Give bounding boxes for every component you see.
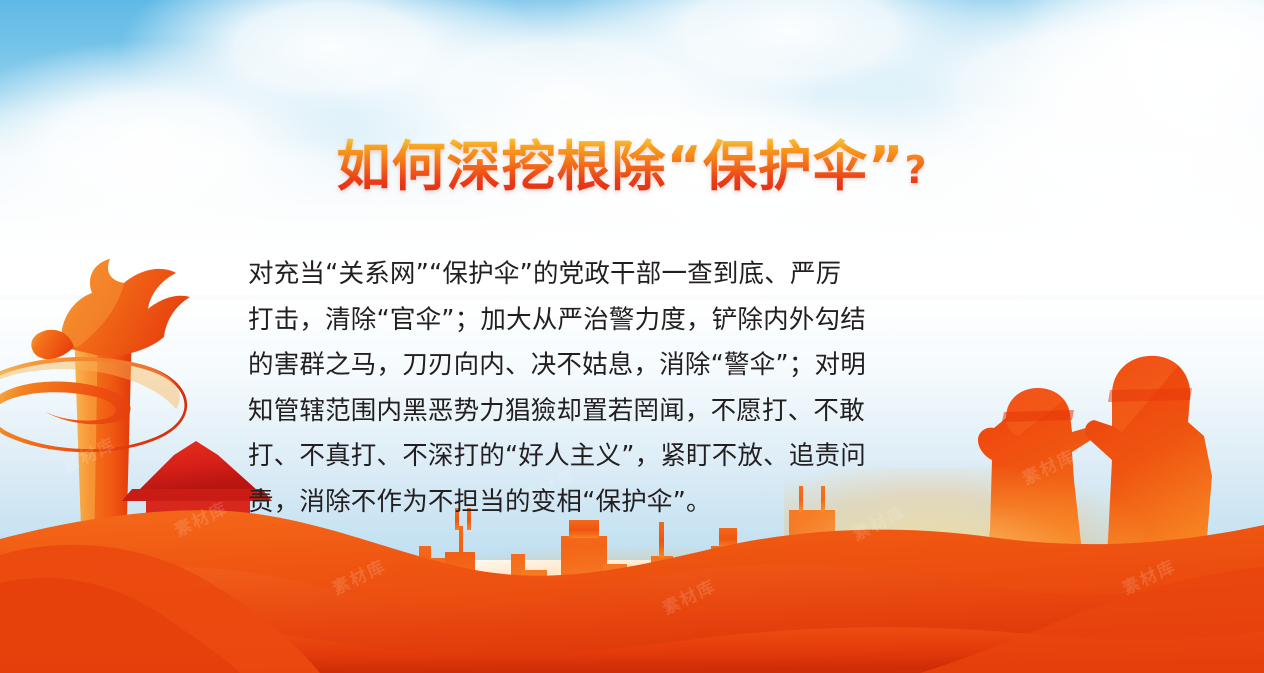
- body-paragraph: 对充当“关系网”“保护伞”的党政干部一查到底、严厉 打击，清除“官伞”；加大从严…: [248, 252, 1018, 525]
- body-line: 对充当“关系网”“保护伞”的党政干部一查到底、严厉: [248, 252, 1018, 298]
- body-line: 知管辖范围内黑恶势力猖獫却置若罔闻，不愿打、不敢: [248, 389, 1018, 435]
- title-question-mark: ?: [904, 148, 927, 192]
- page-title: 如何深挖根除“保护伞”?: [336, 138, 927, 196]
- body-line: 责，消除不作为不担当的变相“保护伞”。: [248, 480, 1018, 526]
- title-block: 如何深挖根除“保护伞”?: [0, 138, 1264, 196]
- body-line: 的害群之马，刀刃向内、决不姑息，消除“警伞”；对明: [248, 343, 1018, 389]
- dove-icon: [31, 259, 190, 359]
- body-line: 打击，清除“官伞”；加大从严治警力度，铲除内外勾结: [248, 298, 1018, 344]
- page-title-text: 如何深挖根除“保护伞”: [336, 135, 904, 198]
- slide-canvas: 素材库 素材库 素材库 素材库 素材库 素材库 素材库 素材库 如何深挖根除“保…: [0, 0, 1264, 673]
- body-line: 打、不真打、不深打的“好人主义”，紧盯不放、追责问: [248, 434, 1018, 480]
